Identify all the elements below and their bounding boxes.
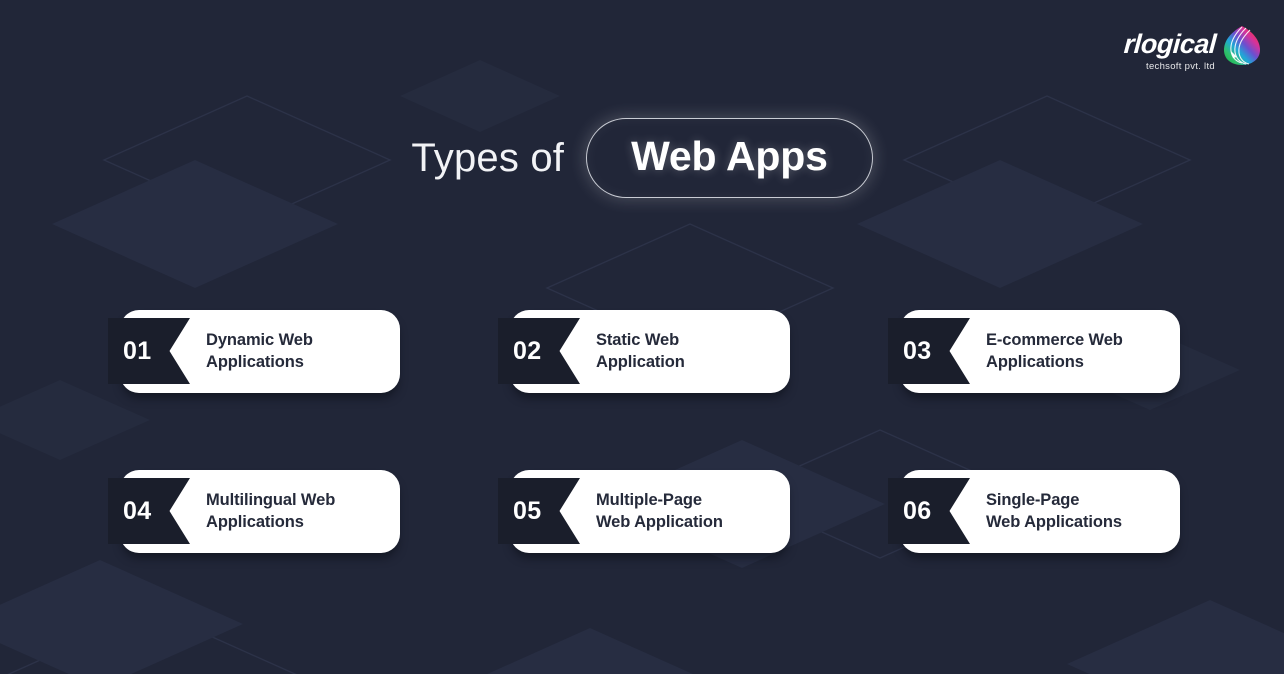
- card-label-line2: Applications: [206, 513, 304, 531]
- card-item[interactable]: 05 Multiple-Page Web Application: [510, 470, 790, 553]
- card-grid: 01 Dynamic Web Applications 02 Static We…: [120, 310, 1182, 553]
- card-item[interactable]: 02 Static Web Application: [510, 310, 790, 393]
- page-title-highlight: Web Apps: [631, 133, 828, 180]
- card-label: Multilingual Web Applications: [206, 490, 345, 534]
- card-number: 01: [123, 339, 152, 364]
- card-label: Single-Page Web Applications: [986, 490, 1132, 534]
- card-item[interactable]: 03 E-commerce Web Applications: [900, 310, 1180, 393]
- card-label-line2: Application: [596, 353, 685, 371]
- card-item[interactable]: 06 Single-Page Web Applications: [900, 470, 1180, 553]
- card-number: 02: [513, 339, 542, 364]
- card-label-line2: Web Applications: [986, 513, 1122, 531]
- card-label-line2: Applications: [206, 353, 304, 371]
- logo-text-block: rlogical techsoft pvt. ltd: [1124, 24, 1216, 72]
- card-label-line1: Dynamic Web: [206, 331, 313, 349]
- logo-wordmark: rlogical: [1123, 31, 1217, 58]
- page-title-lead: Types of: [411, 136, 564, 181]
- card-label-line1: E-commerce Web: [986, 331, 1123, 349]
- card-number: 03: [903, 339, 932, 364]
- card-number: 06: [903, 499, 932, 524]
- card-item[interactable]: 04 Multilingual Web Applications: [120, 470, 400, 553]
- card-label: Static Web Application: [596, 330, 695, 374]
- brand-logo: rlogical techsoft pvt. ltd: [1124, 24, 1262, 72]
- card-label: Dynamic Web Applications: [206, 330, 323, 374]
- card-number-ribbon: 02: [498, 318, 580, 384]
- infographic-slide: rlogical techsoft pvt. ltd: [0, 0, 1284, 674]
- card-label: Multiple-Page Web Application: [596, 490, 733, 534]
- card-item[interactable]: 01 Dynamic Web Applications: [120, 310, 400, 393]
- card-number-ribbon: 04: [108, 478, 190, 544]
- page-title: Types of Web Apps: [0, 118, 1284, 198]
- card-number: 04: [123, 499, 152, 524]
- card-label-line1: Multiple-Page: [596, 491, 702, 509]
- page-title-pill: Web Apps: [586, 118, 873, 198]
- logo-tagline: techsoft pvt. ltd: [1146, 62, 1215, 72]
- card-label-line2: Applications: [986, 353, 1084, 371]
- card-number-ribbon: 05: [498, 478, 580, 544]
- card-number-ribbon: 06: [888, 478, 970, 544]
- card-label-line1: Static Web: [596, 331, 679, 349]
- card-label-line1: Multilingual Web: [206, 491, 335, 509]
- card-label-line2: Web Application: [596, 513, 723, 531]
- card-label-line1: Single-Page: [986, 491, 1079, 509]
- card-label: E-commerce Web Applications: [986, 330, 1133, 374]
- card-number: 05: [513, 499, 542, 524]
- rainbow-leaf-logo-icon: [1222, 24, 1262, 66]
- card-number-ribbon: 01: [108, 318, 190, 384]
- card-number-ribbon: 03: [888, 318, 970, 384]
